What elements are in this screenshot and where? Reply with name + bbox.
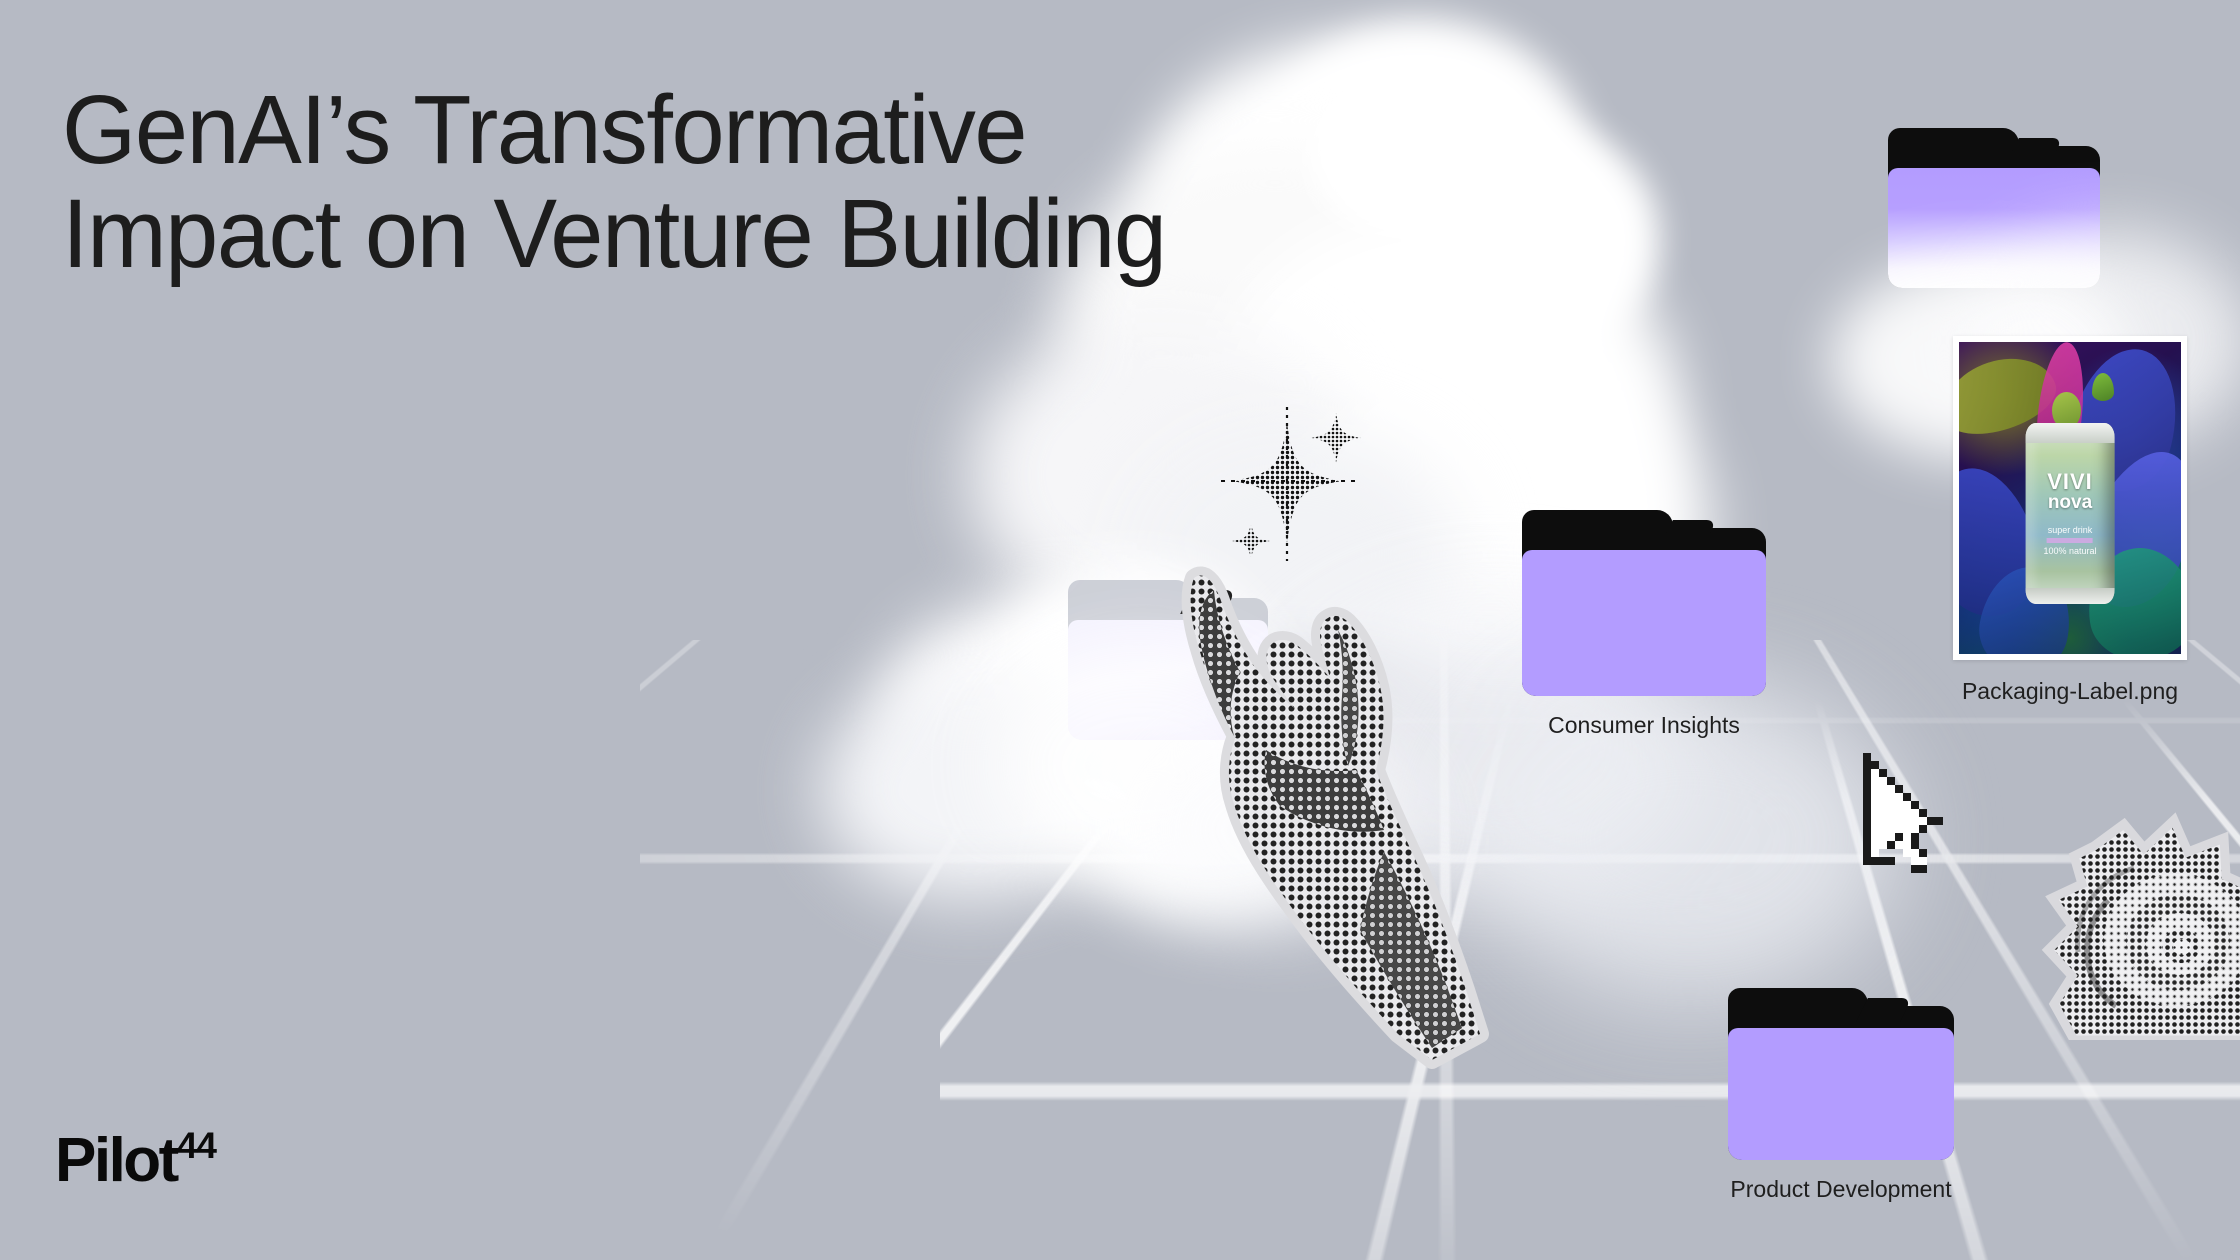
page-title: GenAI’s Transformative Impact on Venture…	[62, 78, 1166, 286]
brand-logo[interactable]: Pilot 44	[55, 1125, 216, 1196]
folder-label: Product Development	[1730, 1176, 1951, 1203]
poster-canvas: GenAI’s Transformative Impact on Venture…	[0, 0, 2240, 1260]
can-brand-line2: nova	[2048, 493, 2092, 513]
halftone-rose-icon	[2038, 790, 2240, 1040]
packaging-label-thumbnail[interactable]: VIVI nova super drink 100% natural Packa…	[1953, 336, 2187, 660]
folder-product-development[interactable]: Product Development	[1728, 988, 1954, 1160]
logo-wordmark: Pilot	[55, 1125, 177, 1196]
halftone-hand-icon	[1170, 560, 1530, 1070]
logo-superscript: 44	[177, 1127, 216, 1164]
folder-body	[1522, 550, 1766, 696]
folder-tab	[1522, 510, 1673, 544]
can-tagline: super drink	[2048, 525, 2093, 535]
product-photo: VIVI nova super drink 100% natural	[1959, 342, 2181, 654]
thumbnail-caption: Packaging-Label.png	[1962, 678, 2178, 705]
can-brand-line1: VIVI	[2047, 471, 2093, 493]
can-claim: 100% natural	[2043, 546, 2096, 556]
arrow-cursor-icon[interactable]	[1855, 745, 1967, 885]
folder-label: Consumer Insights	[1548, 712, 1740, 739]
folder-tab	[1728, 988, 1868, 1022]
folder-body	[1728, 1028, 1954, 1160]
product-can: VIVI nova super drink 100% natural	[2026, 423, 2115, 604]
sparkle-star-icon	[1215, 395, 1380, 580]
folder-tab	[1888, 128, 2019, 162]
can-accent-bar	[2047, 538, 2093, 543]
folder-consumer-insights[interactable]: Consumer Insights	[1522, 510, 1766, 696]
